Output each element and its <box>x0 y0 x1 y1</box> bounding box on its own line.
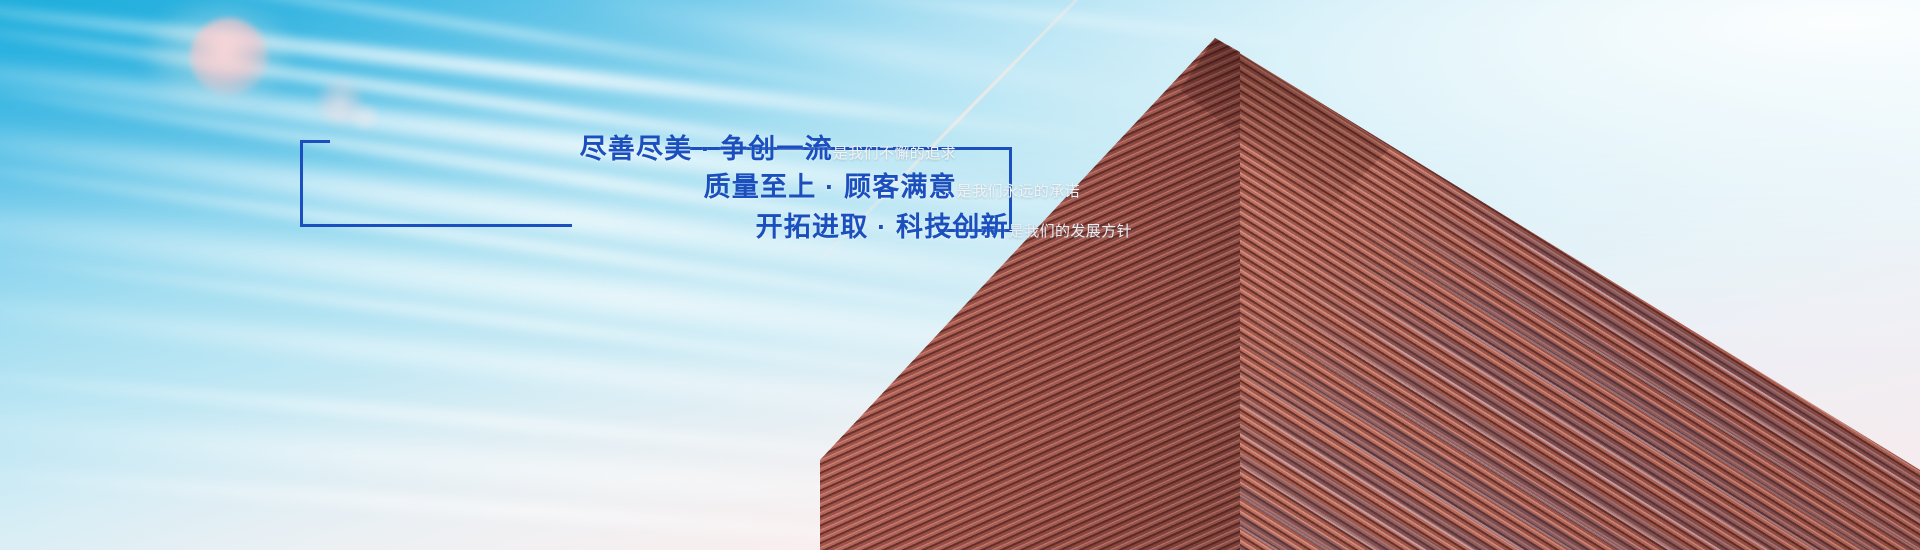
slogan-bracket-frame: 尽善尽美 · 争创一流是我们不懈的追求 质量至上 · 顾客满意是我们永远的承诺 … <box>300 140 1012 295</box>
slogan-line-3: 开拓进取 · 科技创新是我们的发展方针 <box>756 214 1132 241</box>
slogan-text-group: 尽善尽美 · 争创一流是我们不懈的追求 质量至上 · 顾客满意是我们永远的承诺 … <box>300 140 1012 295</box>
building-glass-reflection <box>1200 0 1920 550</box>
slogan-line-1: 尽善尽美 · 争创一流是我们不懈的追求 <box>580 136 956 163</box>
slogan-annotation-2: 是我们永远的承诺 <box>957 183 1080 200</box>
building-right-face <box>1200 0 1920 550</box>
slogan-annotation-1: 是我们不懈的追求 <box>833 145 956 162</box>
slogan-headline-2: 质量至上 · 顾客满意 <box>704 172 957 202</box>
slogan-headline-3: 开拓进取 · 科技创新 <box>756 212 1009 242</box>
slogan-line-2: 质量至上 · 顾客满意是我们永远的承诺 <box>704 174 1080 201</box>
slogan-annotation-3: 是我们的发展方针 <box>1009 223 1132 240</box>
banner-stage: 尽善尽美 · 争创一流是我们不懈的追求 质量至上 · 顾客满意是我们永远的承诺 … <box>0 0 1920 550</box>
slogan-headline-1: 尽善尽美 · 争创一流 <box>580 134 833 164</box>
